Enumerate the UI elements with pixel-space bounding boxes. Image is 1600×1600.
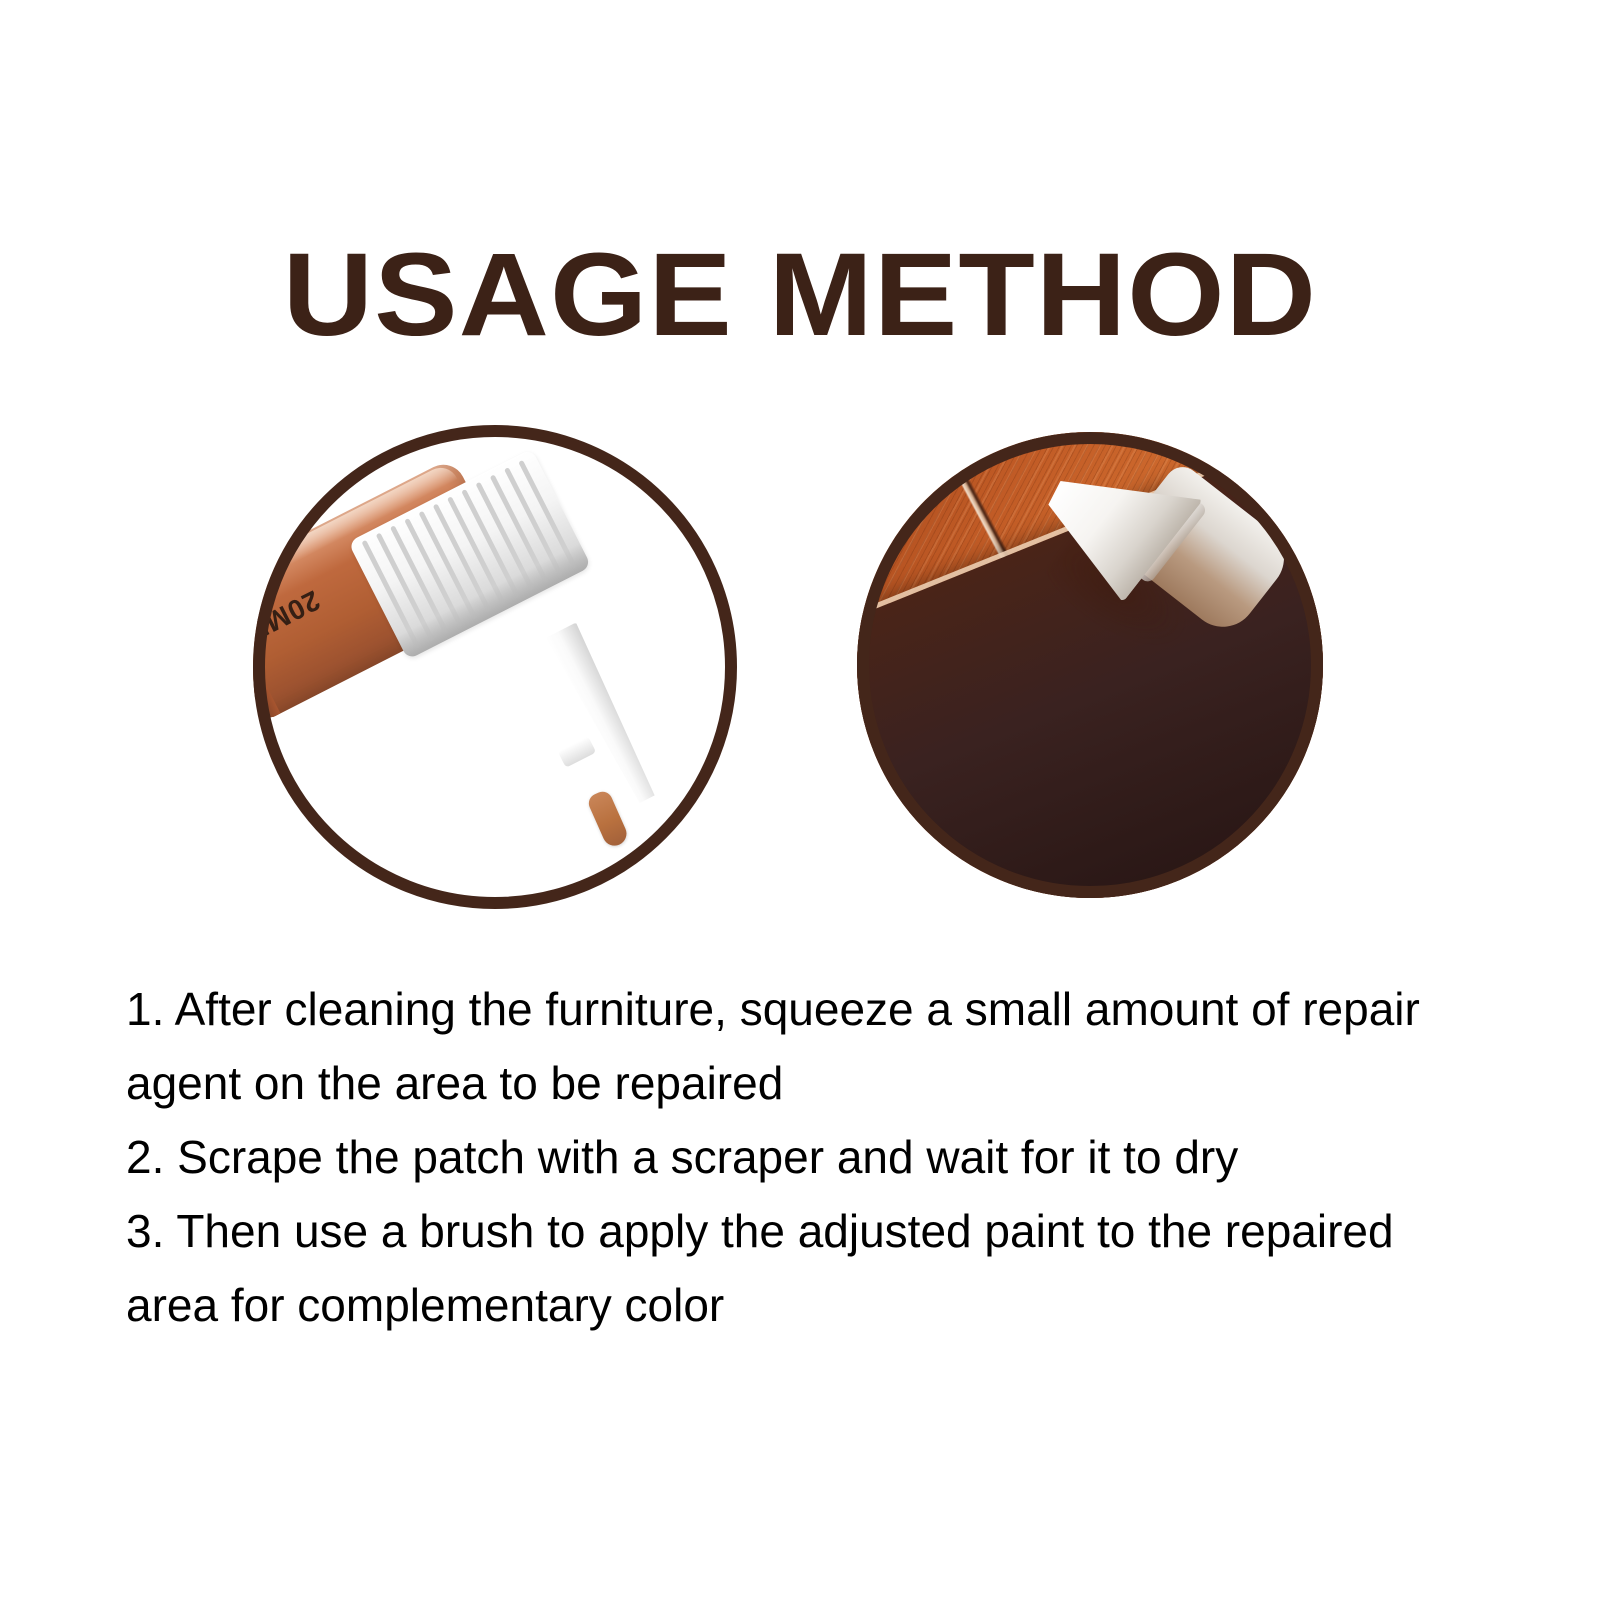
step-2: 2. Scrape the patch with a scraper and w… xyxy=(126,1120,1496,1194)
tube-illustration: 20ML xyxy=(253,425,737,909)
figure-tube: 20ML xyxy=(253,425,737,909)
page-header: USAGE METHOD xyxy=(0,236,1600,354)
tube-volume-label: 20ML xyxy=(253,584,325,647)
step-3: 3. Then use a brush to apply the adjuste… xyxy=(126,1194,1496,1342)
nozzle-icon xyxy=(544,621,664,808)
application-illustration xyxy=(857,432,1323,898)
instruction-steps: 1. After cleaning the furniture, squeeze… xyxy=(126,972,1496,1342)
step-1: 1. After cleaning the furniture, squeeze… xyxy=(126,972,1496,1120)
figure-application xyxy=(857,432,1323,898)
page-title: USAGE METHOD xyxy=(283,236,1317,354)
nozzle-collar-icon xyxy=(558,736,596,767)
applicator-icon xyxy=(1071,458,1271,654)
paste-tip-icon xyxy=(586,789,631,850)
